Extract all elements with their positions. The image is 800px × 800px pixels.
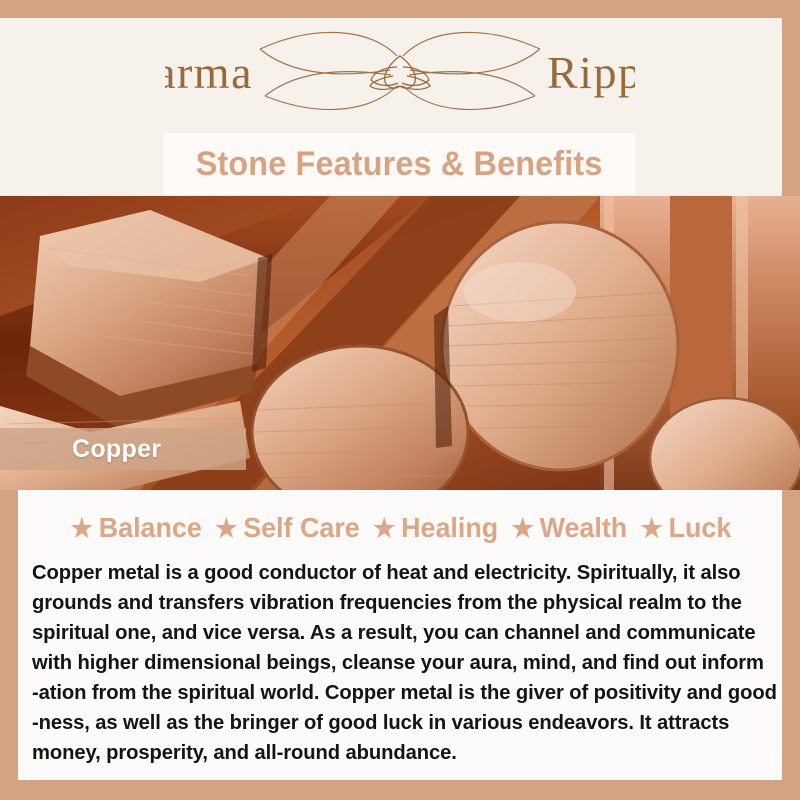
photo-label-band: Copper bbox=[0, 428, 246, 470]
keyword-healing: Healing bbox=[399, 512, 500, 544]
logo-text-right: Ripple bbox=[547, 47, 635, 98]
keyword-list: ★Balance ★Self Care ★Healing ★Wealth ★Lu… bbox=[33, 490, 766, 544]
star-icon: ★ bbox=[67, 513, 97, 544]
frame-band-top bbox=[0, 0, 800, 18]
page-title: Stone Features & Benefits bbox=[196, 145, 603, 184]
brand-logo: Karma Ripple bbox=[0, 18, 800, 126]
description-line: -ness, as well as the bringer of good lu… bbox=[32, 708, 755, 738]
star-icon: ★ bbox=[508, 513, 538, 544]
description-line: money, prosperity, and all-round abundan… bbox=[32, 738, 755, 768]
poster-root: Karma Ripple Stone Features & Benefits bbox=[0, 0, 800, 800]
star-icon: ★ bbox=[369, 513, 399, 544]
description-line: spiritual one, and vice versa. As a resu… bbox=[32, 618, 755, 648]
product-photo: Copper bbox=[0, 196, 800, 490]
section-title-banner: Stone Features & Benefits bbox=[163, 133, 635, 195]
keyword-wealth: Wealth bbox=[538, 512, 629, 544]
content-panel: ★Balance ★Self Care ★Healing ★Wealth ★Lu… bbox=[18, 490, 782, 780]
keyword-self-care: Self Care bbox=[241, 512, 361, 544]
logo-text-left: Karma bbox=[165, 47, 253, 98]
frame-band-bottom bbox=[0, 780, 800, 800]
description-line: grounds and transfers vibration frequenc… bbox=[32, 588, 755, 618]
star-icon: ★ bbox=[637, 513, 667, 544]
keyword-balance: Balance bbox=[97, 512, 204, 544]
keyword-luck: Luck bbox=[667, 512, 734, 544]
description-text: Copper metal is a good conductor of heat… bbox=[18, 544, 782, 768]
description-line: with higher dimensional beings, cleanse … bbox=[32, 648, 755, 678]
description-line: -ation from the spiritual world. Copper … bbox=[32, 678, 755, 708]
description-line: Copper metal is a good conductor of heat… bbox=[32, 558, 755, 588]
stone-name-label: Copper bbox=[0, 435, 161, 464]
star-icon: ★ bbox=[211, 513, 241, 544]
logo-svg: Karma Ripple bbox=[165, 26, 635, 118]
